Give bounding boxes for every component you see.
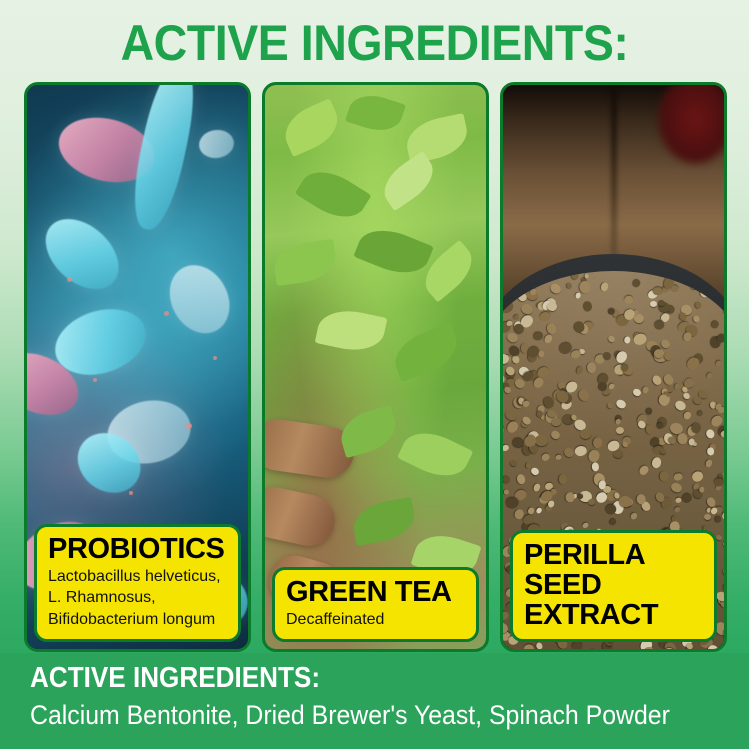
- ingredient-title: PROBIOTICS: [48, 534, 227, 564]
- footer-ingredients-band: ACTIVE INGREDIENTS: Calcium Bentonite, D…: [0, 653, 749, 749]
- ingredient-subtitle: Decaffeinated: [286, 609, 465, 630]
- ingredient-card-green-tea[interactable]: GREEN TEA Decaffeinated: [262, 82, 489, 652]
- ingredient-title: PERILLA SEED EXTRACT: [524, 540, 703, 630]
- ingredient-plate-perilla-seed: PERILLA SEED EXTRACT: [510, 530, 717, 642]
- ingredient-plate-probiotics: PROBIOTICS Lactobacillus helveticus, L. …: [34, 524, 241, 642]
- ingredient-card-row: PROBIOTICS Lactobacillus helveticus, L. …: [24, 82, 727, 652]
- ingredient-subtitle: Lactobacillus helveticus, L. Rhamnosus, …: [48, 566, 227, 630]
- green-tea-leaves-photo: [265, 85, 486, 649]
- page-title: ACTIVE INGREDIENTS:: [26, 14, 723, 72]
- ingredient-card-perilla-seed[interactable]: PERILLA SEED EXTRACT: [500, 82, 727, 652]
- footer-ingredients-list: Calcium Bentonite, Dried Brewer's Yeast,…: [30, 700, 671, 731]
- ingredient-plate-green-tea: GREEN TEA Decaffeinated: [272, 567, 479, 642]
- active-ingredients-infographic: ACTIVE INGREDIENTS:: [0, 0, 749, 749]
- ingredient-card-probiotics[interactable]: PROBIOTICS Lactobacillus helveticus, L. …: [24, 82, 251, 652]
- footer-title: ACTIVE INGREDIENTS:: [30, 662, 657, 695]
- ingredient-title: GREEN TEA: [286, 577, 465, 607]
